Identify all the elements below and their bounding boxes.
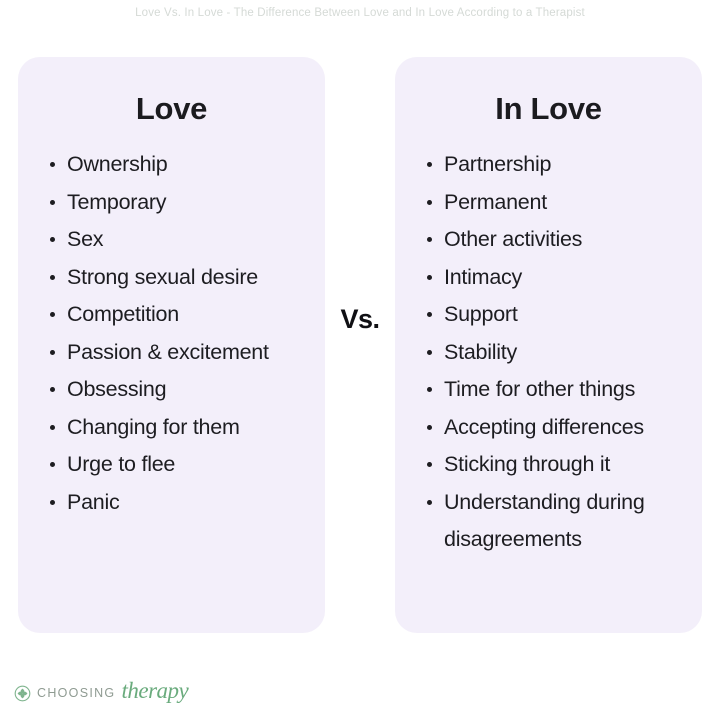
list-item: Intimacy [427, 259, 692, 297]
list-item-line-2: disagreements [444, 521, 692, 559]
list-item: Support [427, 296, 692, 334]
list-item: Time for other things [427, 371, 692, 409]
list-item: Sticking through it [427, 446, 692, 484]
list-item: Ownership [50, 146, 315, 184]
brand-logo: CHOOSING therapy [14, 680, 188, 706]
list-item: Other activities [427, 221, 692, 259]
list-item: Temporary [50, 184, 315, 222]
list-item: Passion & excitement [50, 334, 315, 372]
list-item: Obsessing [50, 371, 315, 409]
list-item: Sex [50, 221, 315, 259]
list-item: Urge to flee [50, 446, 315, 484]
brand-word-therapy: therapy [121, 678, 188, 704]
list-item: Changing for them [50, 409, 315, 447]
list-item: Permanent [427, 184, 692, 222]
card-title-in-love: In Love [395, 91, 702, 127]
comparison-area: Love Ownership Temporary Sex Strong sexu… [0, 57, 720, 635]
versus-divider-label: Vs. [325, 304, 395, 335]
in-love-attribute-list: Partnership Permanent Other activities I… [395, 146, 702, 559]
card-title-love: Love [18, 91, 325, 127]
leaf-circle-icon [14, 685, 31, 702]
comparison-card-in-love: In Love Partnership Permanent Other acti… [395, 57, 702, 633]
page-header-caption: Love Vs. In Love - The Difference Betwee… [0, 7, 720, 19]
comparison-card-love: Love Ownership Temporary Sex Strong sexu… [18, 57, 325, 633]
list-item: Partnership [427, 146, 692, 184]
list-item: Strong sexual desire [50, 259, 315, 297]
brand-word-choosing: CHOOSING [37, 686, 115, 700]
list-item: Panic [50, 484, 315, 522]
list-item: Understanding during disagreements [427, 484, 692, 559]
love-attribute-list: Ownership Temporary Sex Strong sexual de… [18, 146, 325, 521]
list-item-line-1: Understanding during [444, 490, 645, 514]
list-item: Accepting differences [427, 409, 692, 447]
list-item: Stability [427, 334, 692, 372]
list-item: Competition [50, 296, 315, 334]
